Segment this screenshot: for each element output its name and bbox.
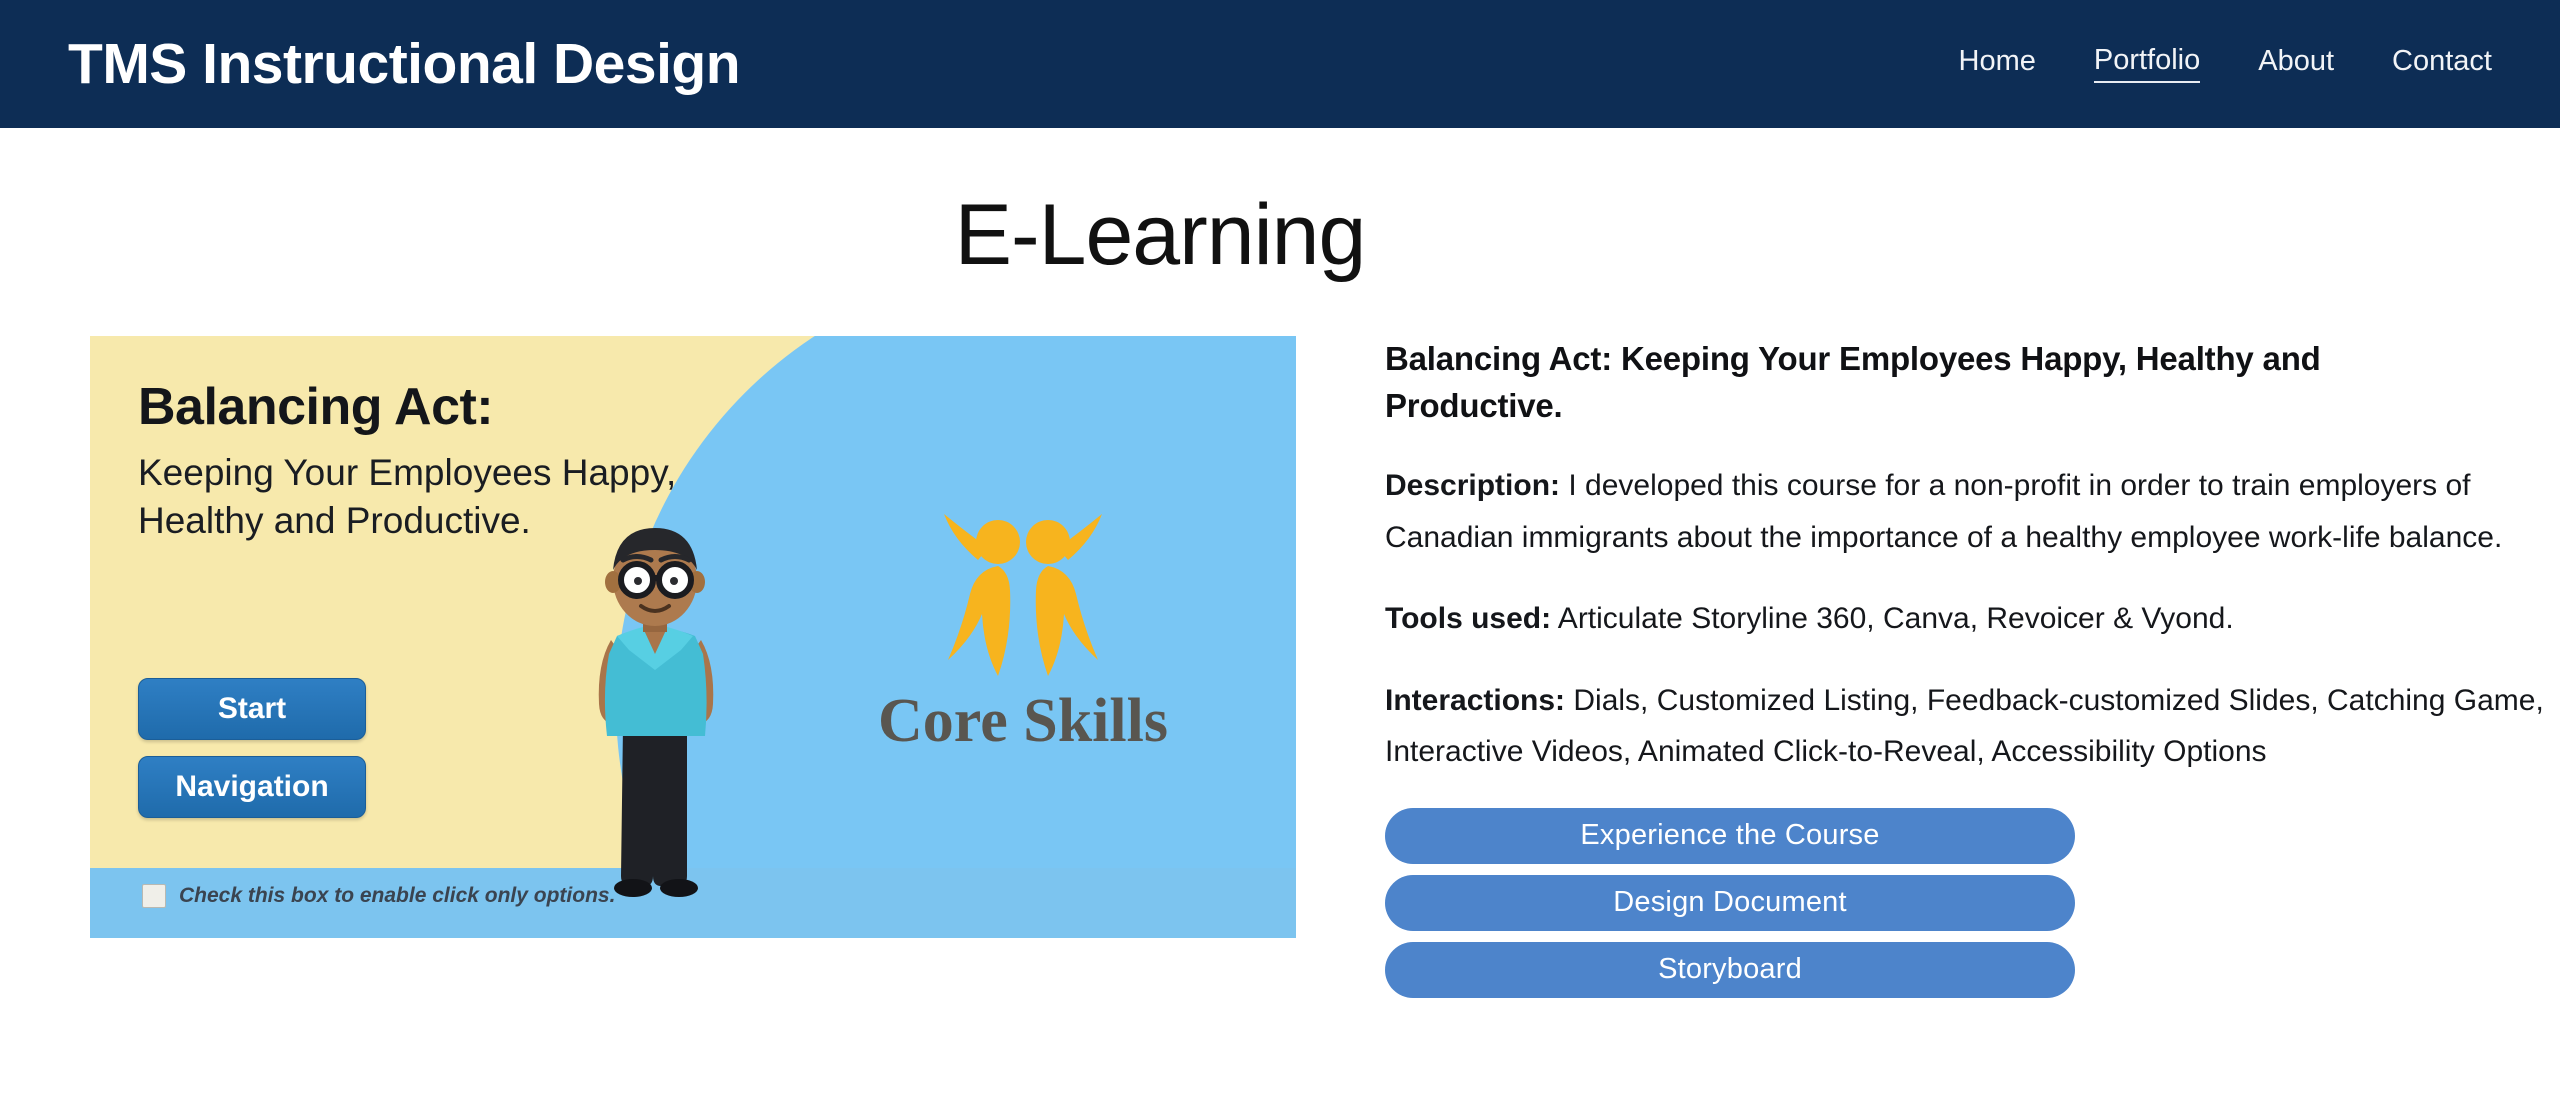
course-thumbnail-column: Balancing Act: Keeping Your Employees Ha… [90, 336, 1295, 938]
core-skills-figures-icon [928, 508, 1118, 684]
course-interactions: Interactions: Dials, Customized Listing,… [1385, 675, 2560, 778]
core-skills-logo: Core Skills [858, 508, 1188, 752]
site-header: TMS Instructional Design Home Portfolio … [0, 0, 2560, 128]
design-document-button[interactable]: Design Document [1385, 875, 2075, 931]
nav-link-contact[interactable]: Contact [2392, 46, 2492, 83]
course-tools: Tools used: Articulate Storyline 360, Ca… [1385, 593, 2560, 645]
thumbnail-navigation-button[interactable]: Navigation [138, 756, 366, 818]
storyboard-button[interactable]: Storyboard [1385, 942, 2075, 998]
course-detail-column: Balancing Act: Keeping Your Employees Ha… [1385, 336, 2560, 998]
description-label: Description: [1385, 469, 1560, 502]
thumbnail-start-button[interactable]: Start [138, 678, 366, 740]
character-illustration [545, 518, 765, 918]
nav-link-portfolio[interactable]: Portfolio [2094, 45, 2200, 84]
thumbnail-checkbox-row: Check this box to enable click only opti… [142, 884, 615, 908]
course-title: Balancing Act: Keeping Your Employees Ha… [1385, 336, 2415, 430]
site-brand-title: TMS Instructional Design [68, 36, 740, 93]
portfolio-item-section: Balancing Act: Keeping Your Employees Ha… [0, 336, 2560, 998]
experience-the-course-button[interactable]: Experience the Course [1385, 808, 2075, 864]
click-only-options-checkbox[interactable] [142, 884, 166, 908]
click-only-options-label: Check this box to enable click only opti… [179, 884, 615, 908]
interactions-label: Interactions: [1385, 684, 1565, 717]
course-thumbnail[interactable]: Balancing Act: Keeping Your Employees Ha… [90, 336, 1296, 938]
main-navigation: Home Portfolio About Contact [1959, 45, 2499, 84]
core-skills-wordmark: Core Skills [858, 690, 1188, 752]
course-description: Description: I developed this course for… [1385, 460, 2560, 563]
nav-link-about[interactable]: About [2258, 46, 2334, 83]
page-title: E-Learning [0, 190, 2560, 280]
tools-label: Tools used: [1385, 602, 1551, 635]
nav-link-home[interactable]: Home [1959, 46, 2036, 83]
thumbnail-heading: Balancing Act: [138, 380, 493, 435]
tools-text: Articulate Storyline 360, Canva, Revoice… [1551, 602, 2234, 635]
